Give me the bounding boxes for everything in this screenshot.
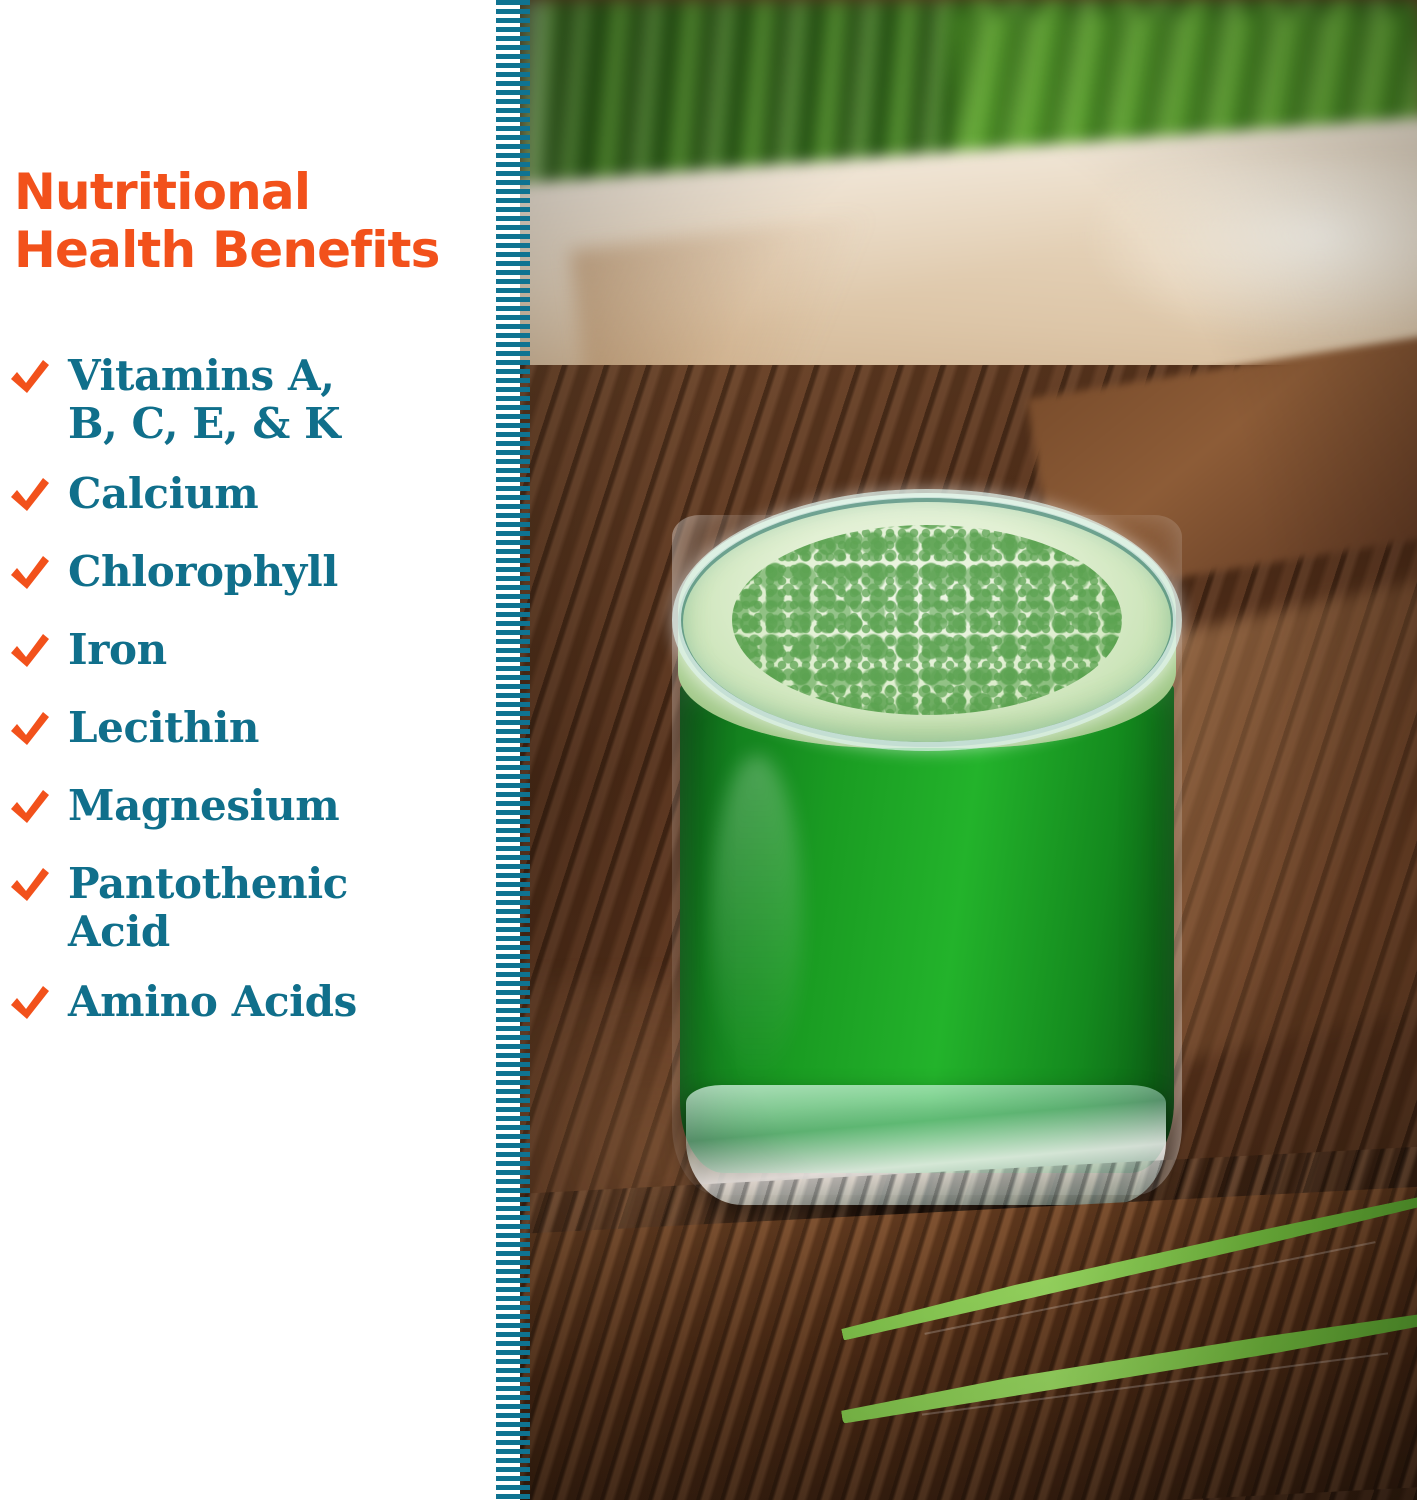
check-icon <box>8 982 52 1026</box>
check-icon <box>8 630 52 674</box>
check-icon <box>8 864 52 908</box>
list-item: Pantothenic Acid <box>0 860 500 956</box>
benefits-list: Vitamins A, B, C, E, & K Calcium Chlorop… <box>0 352 500 1056</box>
benefit-label: Amino Acids <box>68 978 500 1026</box>
check-icon <box>8 552 52 596</box>
cutting-board-grain <box>520 1143 1417 1500</box>
nutritional-benefits-infographic: Nutritional Health Benefits Vitamins A, … <box>0 0 1417 1500</box>
benefits-panel: Nutritional Health Benefits Vitamins A, … <box>0 0 500 1500</box>
benefit-label: Iron <box>68 626 500 674</box>
benefit-label: Magnesium <box>68 782 500 830</box>
list-item: Lecithin <box>0 704 500 760</box>
page-title: Nutritional Health Benefits <box>14 163 484 279</box>
check-icon <box>8 786 52 830</box>
list-item: Vitamins A, B, C, E, & K <box>0 352 500 448</box>
benefit-label: Chlorophyll <box>68 548 500 596</box>
check-icon <box>8 708 52 752</box>
benefit-label: Lecithin <box>68 704 500 752</box>
paper-bag-highlight <box>1080 160 1417 350</box>
wheatgrass-juice-photo <box>520 0 1417 1500</box>
check-icon <box>8 356 52 400</box>
list-item: Magnesium <box>0 782 500 838</box>
list-item: Amino Acids <box>0 978 500 1034</box>
benefit-label: Vitamins A, B, C, E, & K <box>68 352 500 448</box>
list-item: Calcium <box>0 470 500 526</box>
list-item: Chlorophyll <box>0 548 500 604</box>
juice-glass <box>672 455 1182 1200</box>
juice-sheen <box>712 755 802 1085</box>
benefit-label: Calcium <box>68 470 500 518</box>
benefit-label: Pantothenic Acid <box>68 860 500 956</box>
list-item: Iron <box>0 626 500 682</box>
glass-rim <box>672 489 1182 751</box>
check-icon <box>8 474 52 518</box>
dashed-divider <box>496 0 530 1500</box>
